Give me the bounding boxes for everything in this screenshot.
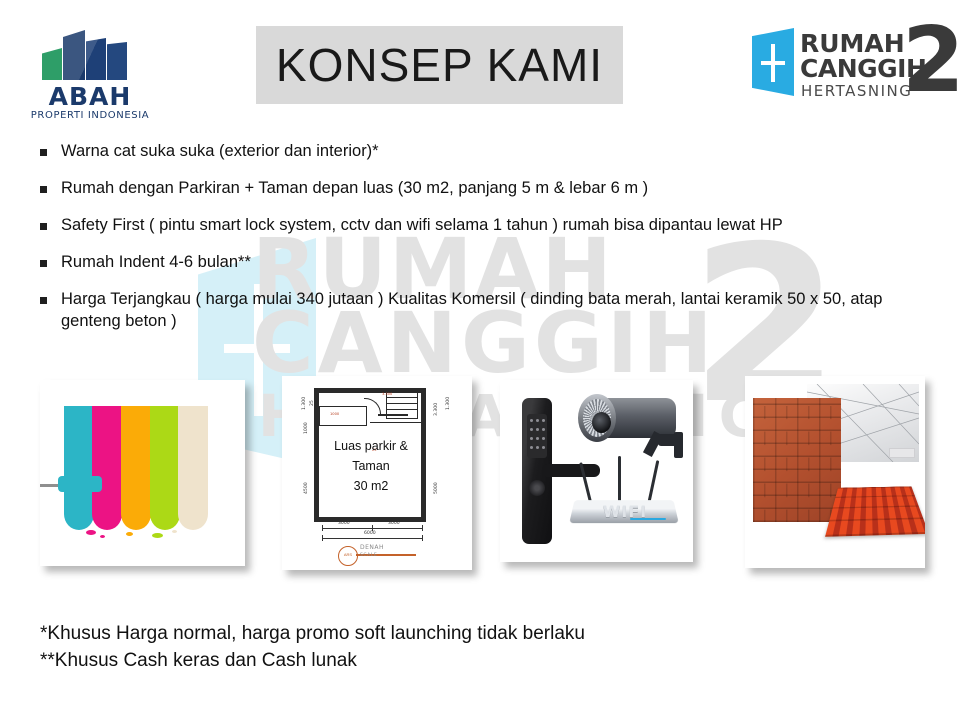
rumah-canggih-logo: RUMAH CANGGIH HERTASNING 2 [752,24,948,102]
floor-plan-card: 1000 3.300 25 Luas parkir & Taman 30 m2 … [282,376,472,570]
window-icon [752,28,794,96]
dim-left-lower: 4500 [304,482,309,494]
rc-logo-line3: HERTASNING [801,82,912,100]
paint-roller-icon [58,476,102,492]
page-title-box: KONSEP KAMI [256,26,623,104]
security-devices-card: WIFI [500,380,693,562]
list-item: Warna cat suka suka (exterior dan interi… [40,140,920,162]
dim-top-right: 3.300 [434,403,439,416]
bullet-text: Harga Terjangkau ( harga mulai 340 jutaa… [61,288,920,332]
dim-bottom-left: 3000 [338,521,350,526]
page-title: KONSEP KAMI [256,26,623,104]
list-item: Safety First ( pintu smart lock system, … [40,214,920,236]
slide-canvas: RUMAH CANGGIH HERTASNING 2 ABAH PROPERTI… [0,0,960,720]
dim-bottom-right: 3000 [388,521,400,526]
dim-corner-right: 1.300 [446,397,451,410]
abah-logo-name: ABAH [30,82,150,111]
dim-top-left-small: 25 [310,400,315,406]
cctv-camera-icon [578,394,678,448]
roof-tile-photo [825,486,925,536]
paint-colors-card [40,380,245,566]
dim-bottom-total: 6000 [364,531,376,536]
footnotes: *Khusus Harga normal, harga promo soft l… [40,620,920,674]
bullet-text: Rumah Indent 4-6 bulan** [61,251,251,273]
dim-left-upper: 1000 [304,422,309,434]
rc-logo-number: 2 [902,16,960,106]
list-item: Rumah dengan Parkiran + Taman depan luas… [40,177,920,199]
footnote-1: *Khusus Harga normal, harga promo soft l… [40,620,920,647]
floor-plan-drawing: 1000 3.300 25 Luas parkir & Taman 30 m2 … [282,376,472,570]
abah-logo-subtitle: PROPERTI INDONESIA [30,110,150,121]
red-brick-wall-photo [753,398,841,522]
bullet-text: Warna cat suka suka (exterior dan interi… [61,140,379,162]
floor-plan-room-tag: 3.300 [382,392,392,396]
floor-plan-label-line3: 30 m2 [318,476,424,496]
list-item: Harga Terjangkau ( harga mulai 340 jutaa… [40,288,920,332]
floor-plan-label: Luas parkir & Taman 30 m2 [318,436,424,496]
bullet-square-icon [40,260,47,267]
door-handle-icon [542,464,600,477]
bullet-square-icon [40,223,47,230]
denah-stamp-icon: ARS [338,546,358,566]
wifi-router-icon: WIFI [572,480,676,526]
denah-scale: SCALE [360,553,377,558]
bullet-text: Rumah dengan Parkiran + Taman depan luas… [61,177,648,199]
bullet-square-icon [40,149,47,156]
denah-title: DENAH [360,544,384,551]
paint-roller-illustration [64,406,214,536]
floor-plan-label-line2: Taman [318,456,424,476]
abah-logo: ABAH PROPERTI INDONESIA [30,20,150,120]
floor-plan-room-tag: 1000 [330,412,339,416]
bullet-square-icon [40,297,47,304]
dim-right-lower: 5000 [434,482,439,494]
floor-plan-label-line1: Luas parkir & [318,436,424,456]
building-skyline-icon [42,22,138,80]
list-item: Rumah Indent 4-6 bulan** [40,251,920,273]
dim-corner-left: 1.300 [302,397,307,410]
building-materials-card [745,376,925,568]
bullet-text: Safety First ( pintu smart lock system, … [61,214,783,236]
photo-card-row: 1000 3.300 25 Luas parkir & Taman 30 m2 … [0,378,960,588]
bullet-square-icon [40,186,47,193]
footnote-2: **Khusus Cash keras dan Cash lunak [40,647,920,674]
feature-bullet-list: Warna cat suka suka (exterior dan interi… [40,140,920,347]
